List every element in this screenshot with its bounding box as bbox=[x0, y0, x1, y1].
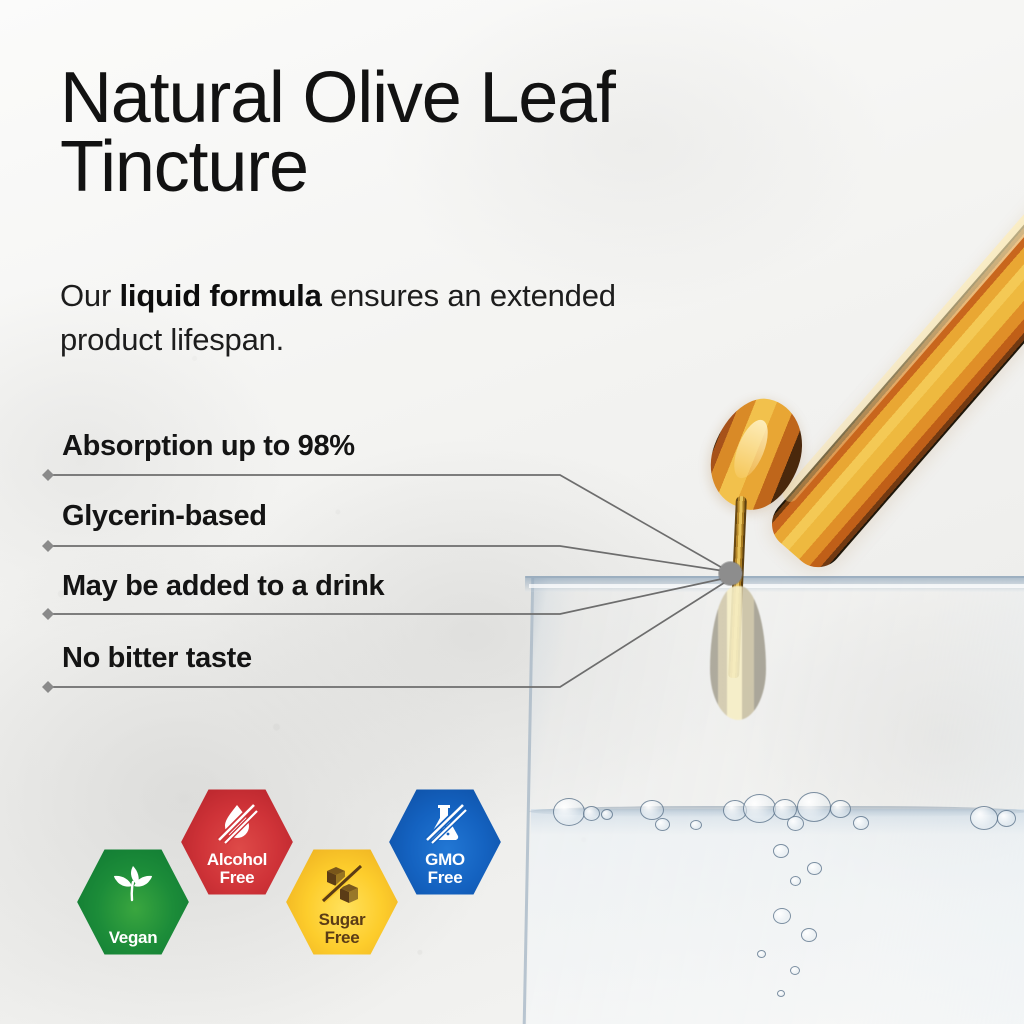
badge-sugar-free-label: SugarFree bbox=[319, 911, 366, 959]
badge-gmo-free: GMOFree bbox=[388, 785, 502, 899]
badge-alcohol-free: AlcoholFree bbox=[180, 785, 294, 899]
product-infographic: Natural Olive Leaf Tincture Our liquid f… bbox=[0, 0, 1024, 1024]
badge-gmo-free-label: GMOFree bbox=[425, 851, 465, 899]
badge-vegan: Vegan bbox=[76, 845, 190, 959]
certification-badges: Vegan AlcoholFree bbox=[0, 0, 1024, 1024]
no-droplet-icon bbox=[216, 802, 258, 844]
no-flask-icon bbox=[423, 802, 467, 844]
leaves-icon bbox=[110, 862, 156, 904]
badge-sugar-free: SugarFree bbox=[285, 845, 399, 959]
badge-alcohol-free-label: AlcoholFree bbox=[207, 851, 267, 899]
badge-vegan-label: Vegan bbox=[109, 929, 158, 959]
no-sugar-cubes-icon bbox=[319, 862, 365, 904]
